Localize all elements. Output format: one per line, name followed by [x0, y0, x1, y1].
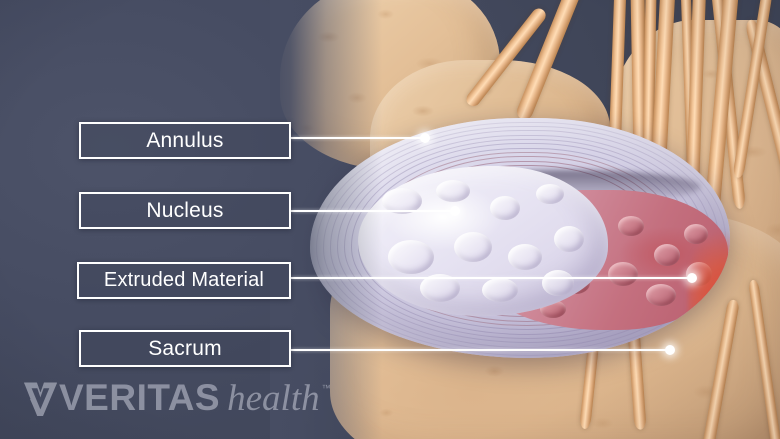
callout-label-text: Extruded Material — [104, 269, 264, 292]
veritas-checkmark-v-icon — [24, 380, 57, 416]
callout-label-extruded-material[interactable]: Extruded Material — [77, 262, 291, 299]
leader-line-extruded-material — [291, 277, 692, 279]
leader-dot-extruded-material — [687, 273, 697, 283]
illustration-canvas: AnnulusNucleusExtruded MaterialSacrum VE… — [0, 0, 780, 439]
leader-dot-annulus — [420, 133, 430, 143]
callout-label-sacrum[interactable]: Sacrum — [79, 330, 291, 367]
callout-label-text: Annulus — [146, 129, 223, 153]
leader-dot-nucleus — [450, 206, 460, 216]
leader-line-nucleus — [291, 210, 455, 212]
callout-label-text: Sacrum — [148, 337, 222, 361]
leader-dot-sacrum — [665, 345, 675, 355]
watermark-brand-primary: VERITAS — [59, 379, 220, 416]
watermark-trademark: ™ — [322, 383, 331, 393]
callout-label-annulus[interactable]: Annulus — [79, 122, 291, 159]
callout-label-text: Nucleus — [146, 199, 223, 223]
leader-line-annulus — [291, 137, 425, 139]
veritas-health-watermark: VERITAS health ™ — [24, 379, 331, 417]
leader-line-sacrum — [291, 349, 670, 351]
callout-label-nucleus[interactable]: Nucleus — [79, 192, 291, 229]
watermark-brand-secondary: health — [227, 380, 319, 417]
